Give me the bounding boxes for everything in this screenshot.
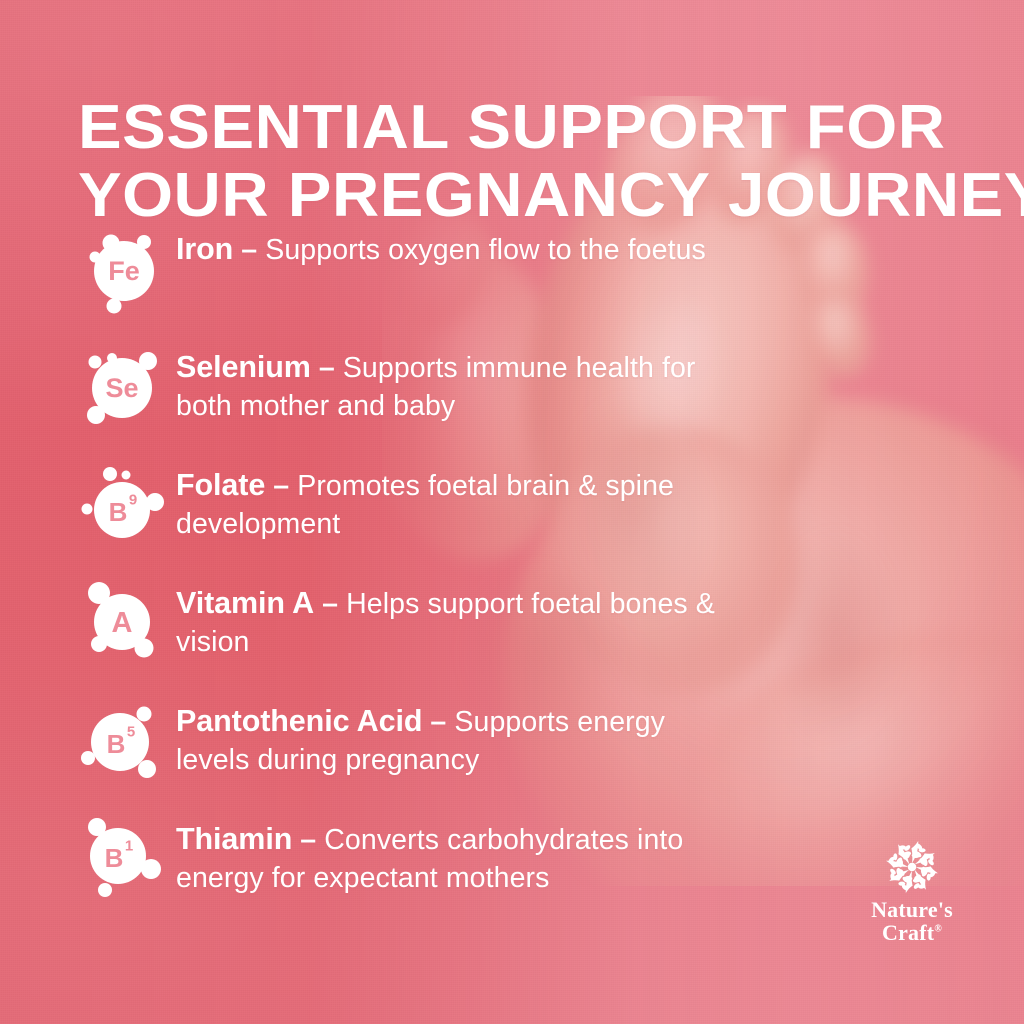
svg-text:Fe: Fe [108, 256, 140, 286]
svg-text:B: B [105, 843, 124, 873]
list-item-text: Selenium – Supports immune health for bo… [176, 340, 718, 425]
svg-text:Se: Se [105, 373, 138, 403]
svg-text:B: B [109, 497, 128, 527]
page-title-line-1: ESSENTIAL SUPPORT FOR [78, 94, 1024, 162]
vitamin-a-badge-icon: A [78, 578, 170, 670]
page-title-line-2: YOUR PREGNANCY JOURNEY [78, 162, 1024, 230]
nutrient-name: Vitamin A [176, 586, 314, 620]
poster-content: ESSENTIAL SUPPORT FOR YOUR PREGNANCY JOU… [0, 0, 1024, 1024]
list-item-text: Vitamin A – Helps support foetal bones &… [176, 576, 718, 661]
nutrient-dash: – [430, 706, 446, 738]
svg-text:B: B [107, 729, 126, 759]
selenium-badge-icon: Se [78, 342, 170, 434]
svg-text:9: 9 [129, 492, 137, 509]
thiamin-badge-icon: B 1 [78, 814, 170, 906]
brand-wordmark: Nature's Craft® [848, 898, 976, 944]
floral-wreath-icon [848, 836, 976, 898]
list-item: Se Selenium – Supports immune health for… [78, 340, 718, 436]
brand-logo: Nature's Craft® [848, 836, 976, 944]
list-item: Fe Iron – Supports oxygen flow to the fo… [78, 222, 718, 318]
list-item: B 1 Thiamin – Converts carbohydrates int… [78, 812, 718, 932]
nutrient-name: Pantothenic Acid [176, 704, 422, 738]
nutrient-list: Fe Iron – Supports oxygen flow to the fo… [78, 222, 718, 932]
nutrient-dash: – [319, 352, 335, 384]
list-item: B 9 Folate – Promotes foetal brain & spi… [78, 458, 718, 554]
nutrient-name: Folate [176, 468, 265, 502]
svg-text:A: A [112, 607, 133, 639]
svg-text:5: 5 [127, 724, 135, 741]
page-title: ESSENTIAL SUPPORT FOR YOUR PREGNANCY JOU… [78, 94, 1024, 230]
list-item-text: Thiamin – Converts carbohydrates into en… [176, 812, 718, 897]
nutrient-dash: – [322, 588, 338, 620]
folate-badge-icon: B 9 [78, 460, 170, 552]
list-item-text: Pantothenic Acid – Supports energy level… [176, 694, 718, 779]
iron-badge-icon: Fe [78, 224, 170, 316]
list-item: B 5 Pantothenic Acid – Supports energy l… [78, 694, 718, 790]
list-item-text: Iron – Supports oxygen flow to the foetu… [176, 222, 718, 269]
nutrient-dash: – [241, 234, 257, 266]
list-item: A Vitamin A – Helps support foetal bones… [78, 576, 718, 672]
nutrient-name: Thiamin [176, 822, 292, 856]
svg-text:1: 1 [125, 838, 133, 855]
pantothenic-acid-badge-icon: B 5 [78, 696, 170, 788]
nutrient-description: Supports oxygen flow to the foetus [265, 234, 706, 266]
nutrient-name: Selenium [176, 350, 311, 384]
pregnancy-support-poster: ESSENTIAL SUPPORT FOR YOUR PREGNANCY JOU… [0, 0, 1024, 1024]
nutrient-dash: – [273, 470, 289, 502]
registered-trademark-symbol: ® [934, 924, 942, 935]
brand-name-line-1: Nature's [871, 897, 953, 922]
nutrient-dash: – [300, 824, 316, 856]
list-item-text: Folate – Promotes foetal brain & spine d… [176, 458, 718, 543]
brand-name-line-2: Craft [882, 920, 934, 945]
nutrient-name: Iron [176, 232, 233, 266]
